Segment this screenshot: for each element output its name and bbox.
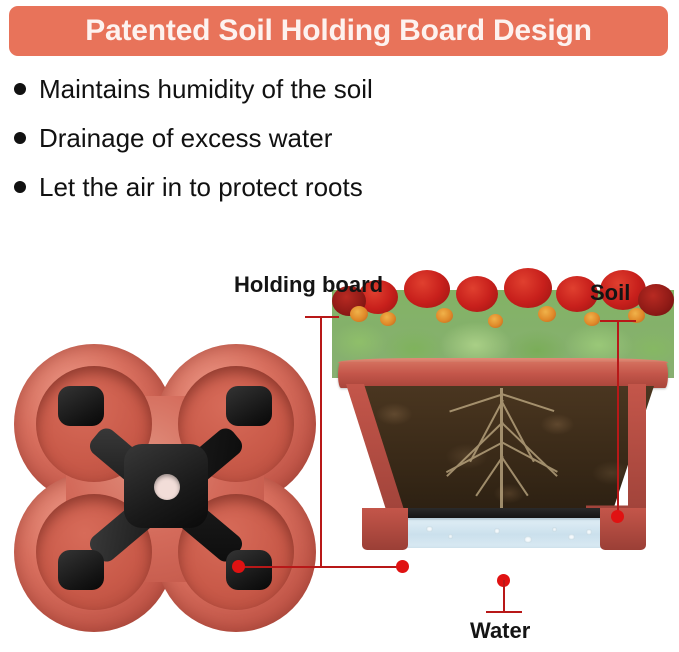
callout-dot-holding-board-left: [232, 560, 245, 573]
pot-top-view-illustration: [6, 338, 324, 638]
header-banner: Patented Soil Holding Board Design: [9, 6, 668, 56]
callout-label-water: Water: [470, 618, 530, 644]
pot-base-foot: [362, 508, 408, 550]
bullet-icon: [14, 83, 26, 95]
callout-line-stem: [503, 580, 505, 612]
flower-bloom: [456, 276, 498, 312]
accent-bloom: [584, 312, 600, 326]
holding-board-foot: [58, 386, 104, 426]
callout-line-arm-right: [320, 566, 402, 568]
bullet-icon: [14, 132, 26, 144]
feature-text: Drainage of excess water: [39, 119, 332, 157]
water-reservoir: [402, 518, 606, 548]
callout-line-arm-left: [242, 566, 322, 568]
page-title: Patented Soil Holding Board Design: [85, 16, 592, 46]
accent-bloom: [380, 312, 396, 326]
accent-bloom: [488, 314, 503, 328]
product-diagram: Holding board Soil Water: [0, 230, 679, 652]
accent-bloom: [350, 306, 368, 322]
accent-bloom: [538, 306, 556, 322]
feature-list: Maintains humidity of the soil Drainage …: [14, 70, 654, 217]
feature-text: Let the air in to protect roots: [39, 168, 363, 206]
drainage-hole-icon: [154, 474, 180, 500]
list-item: Maintains humidity of the soil: [14, 70, 654, 119]
flower-bloom: [404, 270, 450, 308]
feature-text: Maintains humidity of the soil: [39, 70, 373, 108]
accent-bloom: [436, 308, 453, 323]
callout-label-soil: Soil: [590, 280, 630, 306]
callout-label-holding-board: Holding board: [234, 272, 383, 298]
callout-line-stem: [320, 316, 322, 567]
callout-line-cap: [486, 611, 522, 613]
bullet-icon: [14, 181, 26, 193]
list-item: Let the air in to protect roots: [14, 168, 654, 217]
holding-board-foot: [226, 386, 272, 426]
list-item: Drainage of excess water: [14, 119, 654, 168]
callout-line-cap: [305, 316, 339, 318]
callout-dot-soil: [611, 510, 624, 523]
flower-bloom: [504, 268, 552, 308]
callout-dot-holding-board-right: [396, 560, 409, 573]
holding-board-foot: [58, 550, 104, 590]
callout-line-stem: [617, 320, 619, 516]
